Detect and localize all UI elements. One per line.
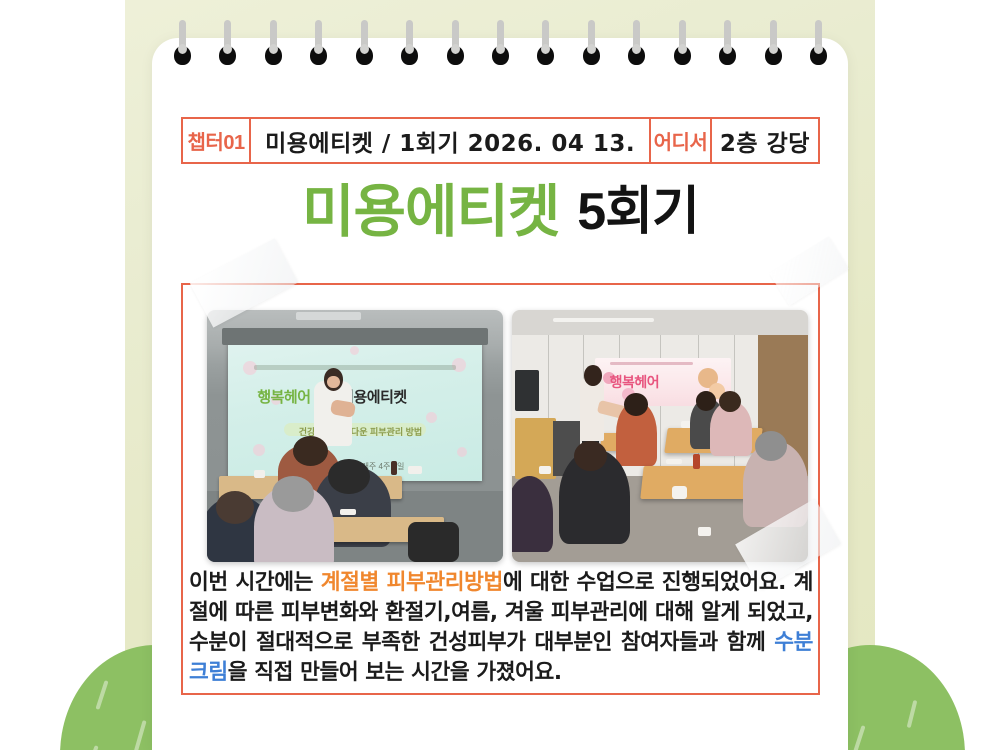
page-title: 미용에티켓 5회기 bbox=[181, 176, 820, 248]
where-label: 어디서 bbox=[651, 119, 712, 162]
photo-room-banner-activity: 행복헤어 bbox=[512, 310, 808, 562]
topic-value: 미용에티켓 / 1회기 2026. 04 13. bbox=[251, 119, 651, 162]
body-paragraph: 이번 시간에는 계절별 피부관리방법에 대한 수업으로 진행되었어요. 계절에 … bbox=[189, 568, 813, 688]
body-segment-1: 이번 시간에는 bbox=[189, 570, 321, 595]
body-highlight-orange: 계절별 피부관리방법 bbox=[321, 570, 503, 595]
photo-classroom-presentation: 행복헤어 미용에티켓 건강하고 아름다운 피부관리 방법 일시 : 매주 4주 … bbox=[207, 310, 503, 562]
slide-title-green: 행복헤어 bbox=[257, 386, 310, 407]
title-main: 미용에티켓 bbox=[302, 184, 559, 241]
body-segment-3: 을 직접 만들어 보는 시간을 가졌어요. bbox=[228, 660, 562, 685]
banner-text: 행복헤어 bbox=[610, 372, 660, 392]
activity-card-page: 챕터01 미용에티켓 / 1회기 2026. 04 13. 어디서 2층 강당 … bbox=[0, 0, 1000, 750]
info-table: 챕터01 미용에티켓 / 1회기 2026. 04 13. 어디서 2층 강당 bbox=[181, 117, 820, 164]
place-value: 2층 강당 bbox=[712, 119, 818, 162]
chapter-label: 챕터01 bbox=[183, 119, 251, 162]
title-sub: 5회기 bbox=[577, 186, 699, 238]
